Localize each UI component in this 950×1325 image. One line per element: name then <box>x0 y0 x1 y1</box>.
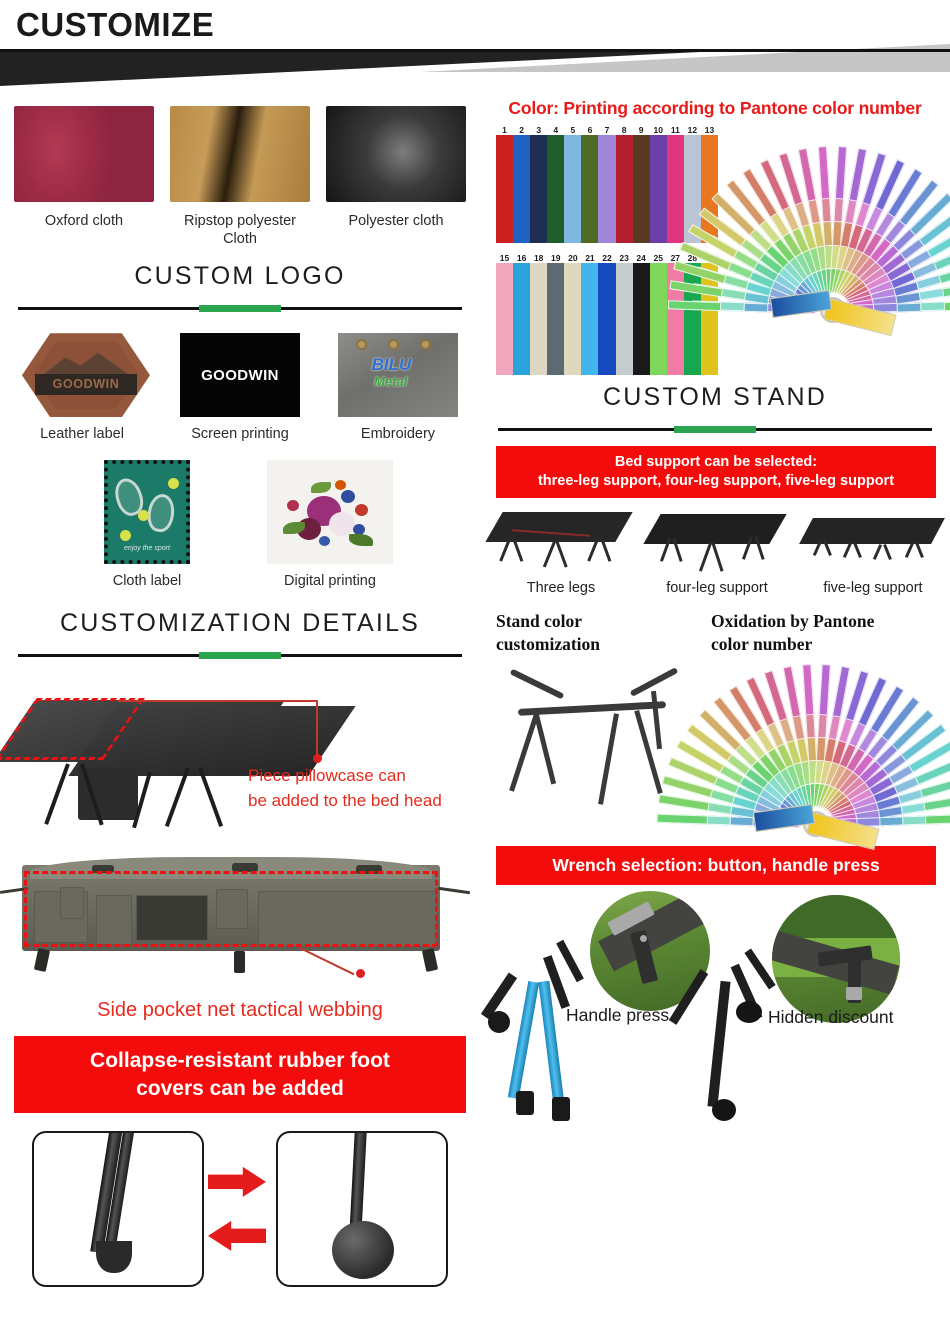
wrench-figures: Handle press Hidden discount <box>480 885 950 1155</box>
grommet-icon <box>388 339 399 350</box>
cloth-label-image: enjoy the sport <box>104 460 190 564</box>
logo-label: Digital printing <box>267 573 393 589</box>
fabric-item: Ripstop polyester Cloth <box>170 106 310 248</box>
cot-strap <box>438 887 470 894</box>
swatch-number: 9 <box>633 125 650 135</box>
customization-details-divider <box>18 650 462 662</box>
fan-blade <box>944 300 950 311</box>
clamp-pin <box>640 935 647 942</box>
rubber-foot-band: Collapse-resistant rubber foot covers ca… <box>14 1036 466 1113</box>
arrow-left-icon <box>208 1221 266 1251</box>
leather-brand-text: GOODWIN <box>53 377 120 391</box>
racket-icon <box>145 493 176 534</box>
ball-icon <box>168 478 179 489</box>
webbing-callout-text: Side pocket net tactical webbing <box>0 999 480 1022</box>
foot-cover-comparison <box>0 1127 480 1295</box>
stand-leg <box>651 691 662 749</box>
swatch-color <box>530 263 547 375</box>
swatch-color <box>598 263 615 375</box>
swatch-number: 4 <box>547 125 564 135</box>
screen-brand-text: GOODWIN <box>201 367 279 384</box>
swatch-color <box>616 263 633 375</box>
stand-foot-cap <box>552 1097 570 1121</box>
webbing-highlight-box <box>24 871 438 947</box>
fan-blade <box>798 147 816 200</box>
custom-stand-heading: CUSTOM STAND <box>480 383 950 412</box>
custom-logo-divider <box>18 303 462 315</box>
swatch-color <box>684 263 701 375</box>
stand-leg-dark <box>707 981 730 1107</box>
swatch-number: 19 <box>547 253 564 263</box>
leg-option-label: four-leg support <box>642 580 792 596</box>
stand-foot-cap <box>516 1091 534 1115</box>
divider-accent <box>199 652 281 659</box>
cot-leg <box>543 540 556 567</box>
swatch-color <box>667 135 684 243</box>
cot-leg <box>853 542 862 558</box>
swatch-number: 1 <box>496 125 513 135</box>
fan-blade <box>668 300 721 311</box>
customization-details-section-header: CUSTOMIZATION DETAILS <box>0 589 480 638</box>
swatch-color <box>633 263 650 375</box>
cot-leg <box>711 542 723 571</box>
stand-leg <box>533 709 556 784</box>
swatch-color <box>547 135 564 243</box>
embroidery-image: BILU Metal <box>338 333 458 417</box>
divider-accent <box>674 426 756 433</box>
swatch-color <box>513 263 530 375</box>
digital-printing-image <box>267 460 393 564</box>
callout-leader-dot <box>356 969 365 978</box>
cot-leg <box>905 542 914 558</box>
cot-foot <box>234 951 245 973</box>
handle-press-label: Handle press <box>566 1005 669 1026</box>
divider-accent <box>199 305 281 312</box>
oxidation-heading: Oxidation by Pantone color number <box>711 610 926 657</box>
stand-main-bar <box>518 701 666 716</box>
rubber-ball-foot <box>332 1221 394 1279</box>
cloth-label-script: enjoy the sport <box>108 545 186 552</box>
logo-item-screen: GOODWIN Screen printing <box>180 333 300 442</box>
leg-option-four: four-leg support <box>642 502 792 596</box>
stand-ball-foot <box>488 1011 510 1033</box>
logo-item-cloth: enjoy the sport Cloth label <box>87 460 207 589</box>
oxidation-block: Oxidation by Pantone color number <box>711 610 926 832</box>
five-leg-cot-image <box>798 502 948 576</box>
page-title: CUSTOMIZE <box>16 6 214 44</box>
swatch-number: 5 <box>564 125 581 135</box>
grommet-icon <box>356 339 367 350</box>
ripstop-polyester-image <box>170 106 310 202</box>
swatch-number: 20 <box>564 253 581 263</box>
cot-leg <box>165 768 190 828</box>
swatch-color <box>530 135 547 243</box>
foot-panel-ball <box>276 1131 448 1287</box>
standard-foot-cap <box>96 1241 132 1273</box>
clamp-closeup-photo-right <box>772 895 900 1023</box>
left-column: Oxford cloth Ripstop polyester Cloth Pol… <box>0 92 480 1295</box>
stand-ball-foot <box>736 1001 762 1023</box>
leather-brand-bar: GOODWIN <box>35 374 137 396</box>
leg-option-label: Three legs <box>486 580 636 596</box>
swatch-number: 11 <box>667 125 684 135</box>
pantone-swatch-row-1: 1 2 3 4 5 6 7 8 9 10 11 12 13 <box>496 125 718 243</box>
swatch-color <box>633 135 650 243</box>
leg-option-row: Three legs four-leg support <box>480 498 950 596</box>
swatch-color <box>650 135 667 243</box>
swatch-color <box>496 135 513 243</box>
callout-leader-diagonal <box>300 947 355 975</box>
fan-blade <box>925 814 950 825</box>
fan-blade <box>835 146 847 199</box>
ball-icon <box>120 530 131 541</box>
screen-printing-image: GOODWIN <box>180 333 300 417</box>
fan-blade <box>818 664 830 715</box>
banner-rule <box>0 49 950 52</box>
custom-logo-heading: CUSTOM LOGO <box>0 262 480 291</box>
cot-leg <box>873 544 882 560</box>
swatch-number: 6 <box>581 125 598 135</box>
customization-details-heading: CUSTOMIZATION DETAILS <box>0 609 480 638</box>
fabric-item: Oxford cloth <box>14 106 154 248</box>
cot-leg <box>699 542 712 571</box>
pantone-fan-deck-bottom <box>711 661 921 831</box>
swatch-color <box>667 263 684 375</box>
swatch-number: 3 <box>530 125 547 135</box>
swatch-strip-2 <box>496 263 718 375</box>
grommet-icon <box>420 339 431 350</box>
clamp-nut <box>846 987 862 1000</box>
cot-deck <box>643 514 786 544</box>
custom-stand-section-header: CUSTOM STAND <box>480 375 950 412</box>
swatch-number: 12 <box>684 125 701 135</box>
logo-item-leather: GOODWIN Leather label <box>22 333 142 442</box>
cot-foot <box>34 948 50 972</box>
logo-item-embroidery: BILU Metal Embroidery <box>338 333 458 442</box>
three-leg-cot-image <box>486 502 636 576</box>
blue-stand-leg <box>508 981 539 1099</box>
swatch-number: 16 <box>513 253 530 263</box>
logo-label: Screen printing <box>180 426 300 442</box>
leg-option-label: five-leg support <box>798 580 948 596</box>
stand-arm-dark <box>744 948 775 989</box>
arrow-right-icon <box>208 1167 266 1197</box>
swatch-number: 10 <box>650 125 667 135</box>
embroidery-brand-text: BILU <box>372 355 412 375</box>
swatch-color <box>564 263 581 375</box>
swatch-strip-1 <box>496 135 718 243</box>
fan-blade <box>802 664 814 715</box>
stand-color-heading: Stand color customization <box>496 610 711 657</box>
swatch-color <box>581 135 598 243</box>
logo-item-digital: Digital printing <box>267 460 393 589</box>
cot-leg <box>44 764 70 826</box>
fabric-item: Polyester cloth <box>326 106 466 248</box>
wrench-selection-band: Wrench selection: button, handle press <box>496 846 936 885</box>
hidden-discount-label: Hidden discount <box>768 1007 894 1028</box>
leg-option-five: five-leg support <box>798 502 948 596</box>
cot-leg <box>843 542 852 558</box>
logo-label: Cloth label <box>87 573 207 589</box>
fabric-label: Oxford cloth <box>14 212 154 230</box>
swatch-numbers-row-1: 1 2 3 4 5 6 7 8 9 10 11 12 13 <box>496 125 718 135</box>
right-column: Color: Printing according to Pantone col… <box>480 92 950 1155</box>
fabric-label: Ripstop polyester Cloth <box>170 212 310 248</box>
polyester-cloth-image <box>326 106 466 202</box>
logo-label: Leather label <box>22 426 142 442</box>
tactical-webbing-figure <box>0 847 480 997</box>
page-banner: CUSTOMIZE <box>0 0 950 92</box>
fabric-swatch-row: Oxford cloth Ripstop polyester Cloth Pol… <box>0 92 480 248</box>
pantone-print-title: Color: Printing according to Pantone col… <box>480 92 950 125</box>
bed-support-band: Bed support can be selected: three-leg s… <box>496 446 936 498</box>
pantone-fan-deck-top <box>730 142 935 317</box>
custom-logo-section-header: CUSTOM LOGO <box>0 248 480 291</box>
logo-row-1: GOODWIN Leather label GOODWIN Screen pri… <box>0 315 480 442</box>
stand-leg <box>598 713 619 804</box>
leg-option-three: Three legs <box>486 502 636 596</box>
callout-leader-dot <box>313 754 322 763</box>
swatch-number: 22 <box>598 253 615 263</box>
foot-panel-standard <box>32 1131 204 1287</box>
stand-arm <box>510 669 565 700</box>
swatch-number: 21 <box>581 253 598 263</box>
logo-label: Embroidery <box>338 426 458 442</box>
swatch-number: 7 <box>598 125 615 135</box>
fan-blade <box>818 146 830 199</box>
leather-label-image: GOODWIN <box>22 333 150 417</box>
swatch-numbers-row-2: 15 16 18 19 20 21 22 23 24 25 27 28 29 <box>496 253 718 263</box>
swatch-number: 18 <box>530 253 547 263</box>
swatch-number: 25 <box>650 253 667 263</box>
four-leg-cot-image <box>642 502 792 576</box>
cot-leg <box>915 542 924 558</box>
swatch-color <box>650 263 667 375</box>
callout-leader-horizontal <box>118 700 318 702</box>
cot-leg <box>555 540 567 567</box>
cot-leg <box>198 768 223 828</box>
custom-stand-divider <box>498 424 932 436</box>
swatch-number: 8 <box>616 125 633 135</box>
logo-row-2: enjoy the sport Cloth label Digital prin… <box>0 442 480 589</box>
fabric-label: Polyester cloth <box>326 212 466 230</box>
swatch-number: 13 <box>701 125 718 135</box>
fan-blade <box>923 795 950 812</box>
swatch-number: 23 <box>616 253 633 263</box>
stand-arm-dark <box>556 939 584 982</box>
stand-ball-foot <box>712 1099 736 1121</box>
swatch-color <box>616 135 633 243</box>
embroidery-brand-sub: Metal <box>374 374 407 389</box>
swatch-number: 15 <box>496 253 513 263</box>
cot-leg <box>883 544 892 560</box>
swatch-color <box>513 135 530 243</box>
swatch-color <box>564 135 581 243</box>
swatch-color <box>496 263 513 375</box>
swatch-number: 24 <box>633 253 650 263</box>
stand-color-row: Stand color customization Oxidation by P… <box>480 596 950 832</box>
swatch-color <box>581 263 598 375</box>
swatch-number: 2 <box>513 125 530 135</box>
swatch-color <box>547 263 564 375</box>
swatch-color <box>598 135 615 243</box>
cot-foot <box>422 948 438 972</box>
pillowcase-detail-figure: Piece pillowcase can be added to the bed… <box>0 668 480 843</box>
callout-leader-vertical <box>316 700 318 758</box>
oxford-cloth-image <box>14 106 154 202</box>
pillowcase-callout-text: Piece pillowcase can be added to the bed… <box>248 764 478 813</box>
